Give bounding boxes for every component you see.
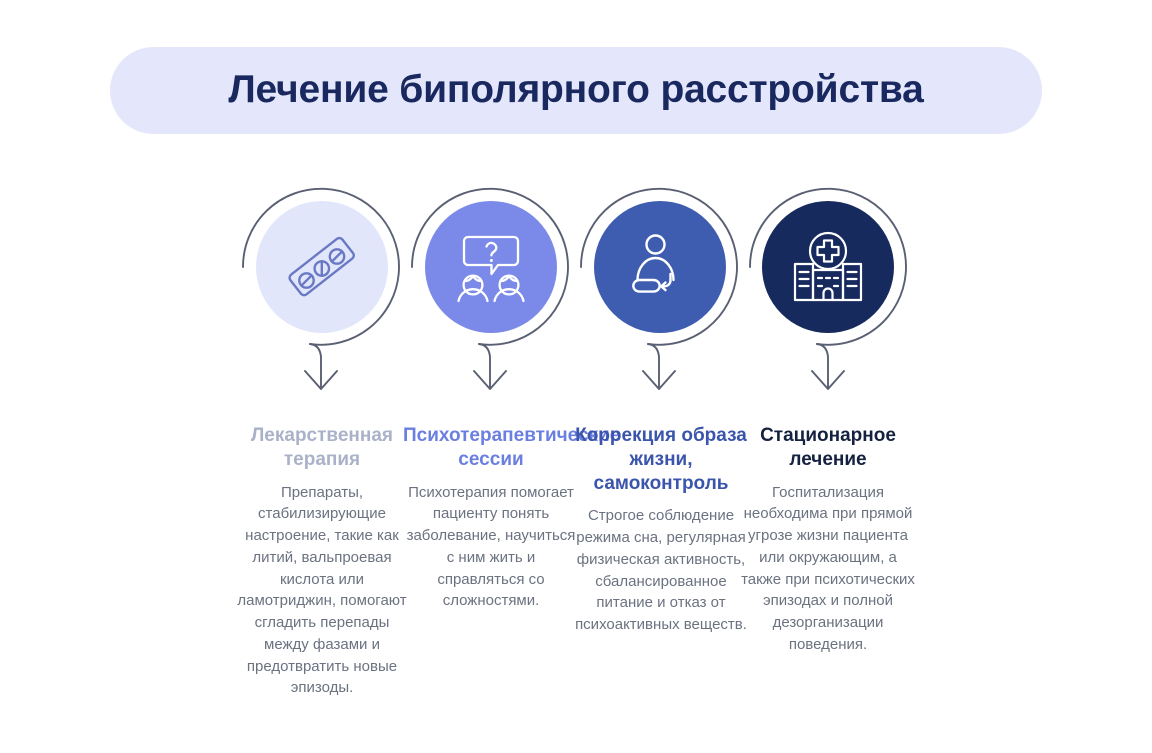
step-circle-4[interactable] [762,201,894,333]
step-body-1: Препараты, стабилизирующие настроение, т… [234,482,410,700]
step-column-4: Стационарное лечение Госпитализация необ… [740,424,916,656]
step-heading-3: Коррекция образа жизни, самоконтроль [573,424,749,495]
step-column-2: Психотерапевтические сессии Психотерапия… [403,424,579,612]
connector-arcs-layer [0,0,1152,753]
meditating-person-icon [625,232,695,302]
process-diagram [0,0,1152,753]
step-body-2: Психотерапия помогает пациенту понять за… [403,482,579,613]
step-heading-4: Стационарное лечение [740,424,916,472]
step-column-1: Лекарственная терапия Препараты, стабили… [234,424,410,699]
step-circle-1[interactable] [256,201,388,333]
step-body-4: Госпитализация необходима при прямой угр… [740,482,916,656]
step-column-3: Коррекция образа жизни, самоконтроль Стр… [573,424,749,636]
step-heading-2: Психотерапевтические сессии [403,424,579,472]
hospital-building-cross-icon [790,231,866,303]
step-body-3: Строгое соблюдение режима сна, регулярна… [573,505,749,636]
step-heading-1: Лекарственная терапия [234,424,410,472]
two-people-question-speech-bubble-icon [453,229,529,305]
step-circle-3[interactable] [594,201,726,333]
step-circle-2[interactable] [425,201,557,333]
pill-blister-pack-icon [285,230,359,304]
